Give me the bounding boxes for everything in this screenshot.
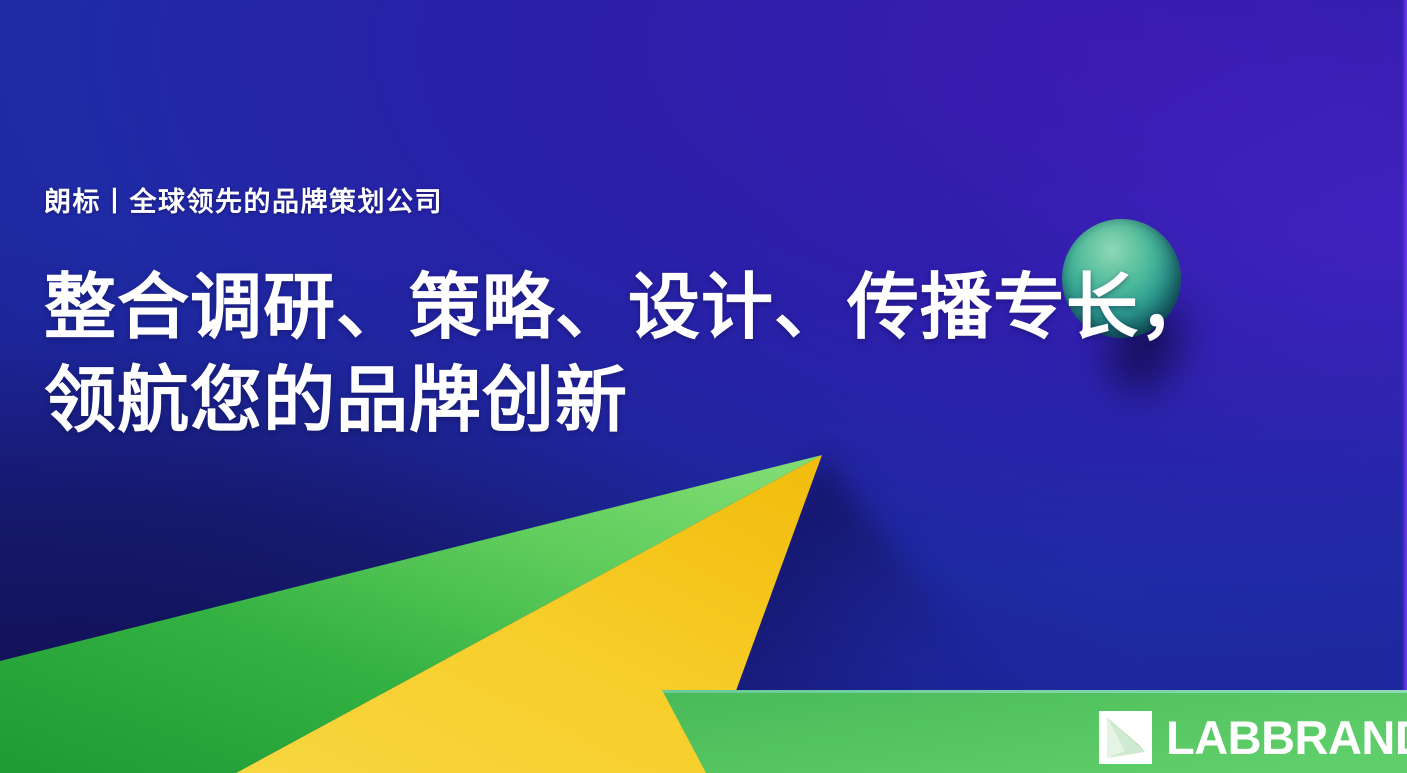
green-floor-top-edge: [662, 690, 1407, 693]
headline-block: 朗标丨全球领先的品牌策划公司 整合调研、策略、设计、传播专长， 领航您的品牌创新: [44, 186, 1174, 447]
page-title: 整合调研、策略、设计、传播专长， 领航您的品牌创新: [44, 262, 1174, 446]
headline-line-1: 整合调研、策略、设计、传播专长，: [44, 262, 1174, 354]
eyebrow-text: 朗标丨全球领先的品牌策划公司: [44, 186, 1174, 218]
labbrand-square-wedge-icon: [1099, 711, 1152, 764]
brand-banner: 朗标丨全球领先的品牌策划公司 整合调研、策略、设计、传播专长， 领航您的品牌创新…: [0, 0, 1407, 773]
labbrand-logo[interactable]: LABBRAND: [1099, 711, 1407, 764]
labbrand-wordmark: LABBRAND: [1166, 714, 1407, 761]
headline-line-2: 领航您的品牌创新: [44, 355, 1174, 447]
